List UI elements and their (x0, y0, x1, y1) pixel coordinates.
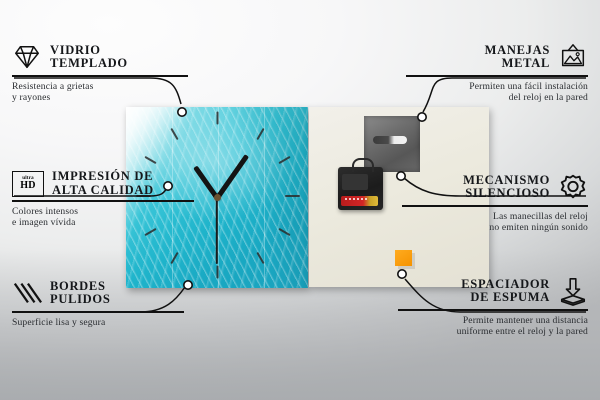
picture-frame-hook-icon (558, 42, 588, 72)
feature-title-line2: TEMPLADO (50, 57, 128, 71)
feature-impresion-alta-calidad: ultra HD IMPRESIÓN DE ALTA CALIDAD Color… (12, 170, 198, 229)
ultra-hd-icon-bottom: HD (20, 181, 36, 191)
infographic-canvas: VIDRIO TEMPLADO Resistencia a grietas y … (0, 0, 600, 400)
feature-title-line1: BORDES (50, 280, 110, 294)
feature-manejas-metal: MANEJAS METAL Permiten una fácil instala… (406, 42, 588, 104)
feature-desc-line1: Las manecillas del reloj (402, 211, 588, 223)
connector-dot-vidrio (178, 108, 186, 116)
feature-bordes-pulidos: BORDES PULIDOS Superficie lisa y segura (12, 278, 188, 328)
feature-header: ultra HD IMPRESIÓN DE ALTA CALIDAD (12, 170, 198, 197)
feature-title-line1: IMPRESIÓN DE (52, 170, 154, 184)
feature-rule (12, 200, 194, 202)
feature-desc-line1: Permite mantener una distancia (398, 315, 588, 327)
feature-title-line1: VIDRIO (50, 44, 128, 58)
feature-rule (402, 205, 588, 207)
feature-desc-line2: no emiten ningún sonido (402, 222, 588, 234)
feature-title-line1: MECANISMO (463, 174, 550, 188)
gear-icon (558, 172, 588, 202)
feature-rule (12, 311, 184, 313)
ultra-hd-icon: ultra HD (12, 171, 44, 197)
feature-desc-line1: Resistencia a grietas (12, 81, 192, 93)
feature-rule (406, 75, 588, 77)
feature-rule (12, 75, 188, 77)
feature-desc-line1: Superficie lisa y segura (12, 317, 188, 329)
feature-mecanismo-silencioso: MECANISMO SILENCIOSO Las manecillas del … (402, 172, 588, 234)
feature-header: MECANISMO SILENCIOSO (402, 172, 588, 202)
feature-header: BORDES PULIDOS (12, 278, 188, 308)
feature-header: ESPACIADOR DE ESPUMA (398, 276, 588, 306)
feature-title-line1: ESPACIADOR (461, 278, 550, 292)
feature-title-line2: DE ESPUMA (461, 291, 550, 305)
feature-header: MANEJAS METAL (406, 42, 588, 72)
feature-desc-line2: y rayones (12, 92, 192, 104)
feature-desc-line2: e imagen vívida (12, 217, 198, 229)
arrow-down-pad-icon (558, 276, 588, 306)
feature-title-line2: ALTA CALIDAD (52, 184, 154, 198)
diagonal-stripes-icon (12, 278, 42, 308)
feature-title-line1: MANEJAS (485, 44, 550, 58)
feature-rule (398, 309, 588, 311)
feature-title-line2: PULIDOS (50, 293, 110, 307)
feature-header: VIDRIO TEMPLADO (12, 42, 192, 72)
diamond-icon (12, 42, 42, 72)
feature-title-line2: METAL (485, 57, 550, 71)
feature-desc-line2: uniforme entre el reloj y la pared (398, 326, 588, 338)
feature-title-line2: SILENCIOSO (463, 187, 550, 201)
connector-dot-manejas (418, 113, 426, 121)
feature-desc-line2: del reloj en la pared (406, 92, 588, 104)
feature-espaciador-de-espuma: ESPACIADOR DE ESPUMA Permite mantener un… (398, 276, 588, 338)
feature-vidrio-templado: VIDRIO TEMPLADO Resistencia a grietas y … (12, 42, 192, 104)
feature-desc-line1: Colores intensos (12, 206, 198, 218)
feature-desc-line1: Permiten una fácil instalación (406, 81, 588, 93)
